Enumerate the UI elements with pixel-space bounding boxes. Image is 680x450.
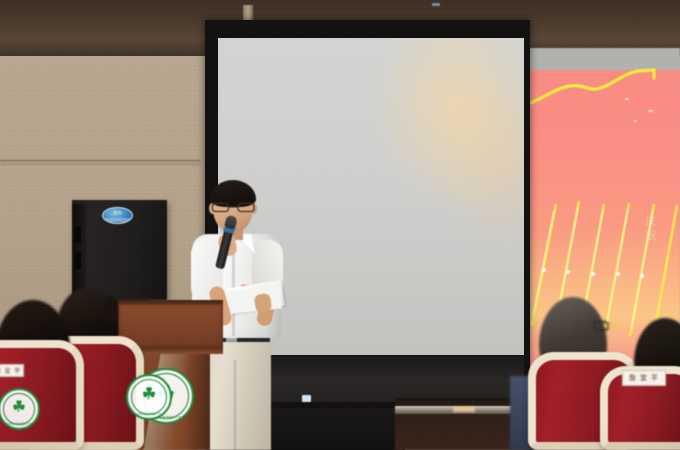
loudspeaker-badge: 音响 <box>102 207 133 224</box>
chair-left-1[interactable]: ☘ UNIVERSITY 詹 宜 平 <box>0 340 84 450</box>
chair-emblem: ☘ UNIVERSITY <box>126 374 172 420</box>
loudspeaker-badge-label: 音响 <box>103 210 132 216</box>
attendee-right-1-glasses-icon <box>592 318 620 334</box>
emblem-mark: ☘ <box>12 400 25 415</box>
emblem-text: UNIVERSITY <box>0 422 38 426</box>
sparkle <box>648 110 653 112</box>
chair-nameplate: 詹 宜 平 <box>622 370 666 386</box>
chair-right-2[interactable]: 詹 宜 平 <box>600 366 680 450</box>
attendee-left-2-ponytail <box>104 296 118 324</box>
photo-scene: 庆 祝 音响 <box>0 0 680 450</box>
svg-text:祝: 祝 <box>646 228 657 242</box>
celebration-watermark-icon: 庆 祝 <box>628 210 674 244</box>
emblem-text: UNIVERSITY <box>128 412 170 416</box>
sparkle <box>625 98 629 100</box>
loudspeaker-handle <box>75 226 81 243</box>
glasses-icon <box>211 201 256 213</box>
ceiling-indicator-light <box>432 3 440 6</box>
loudspeaker-handle <box>75 252 81 269</box>
presenter-hand-right <box>254 293 272 313</box>
emblem-mark: ☘ <box>142 387 156 403</box>
svg-text:庆: 庆 <box>646 214 657 228</box>
loudspeaker-badge-stripe <box>103 218 132 222</box>
chair-emblem: ☘ UNIVERSITY <box>0 388 40 430</box>
cabinet-highlight <box>453 407 475 412</box>
wall-trim <box>0 160 200 163</box>
stage-loudspeaker: 音响 <box>72 200 167 300</box>
presenter-trouser-seam <box>234 360 236 450</box>
screen-led-indicator <box>302 395 311 402</box>
sparkle <box>634 120 637 122</box>
chair-nameplate: 詹 宜 平 <box>0 364 24 377</box>
